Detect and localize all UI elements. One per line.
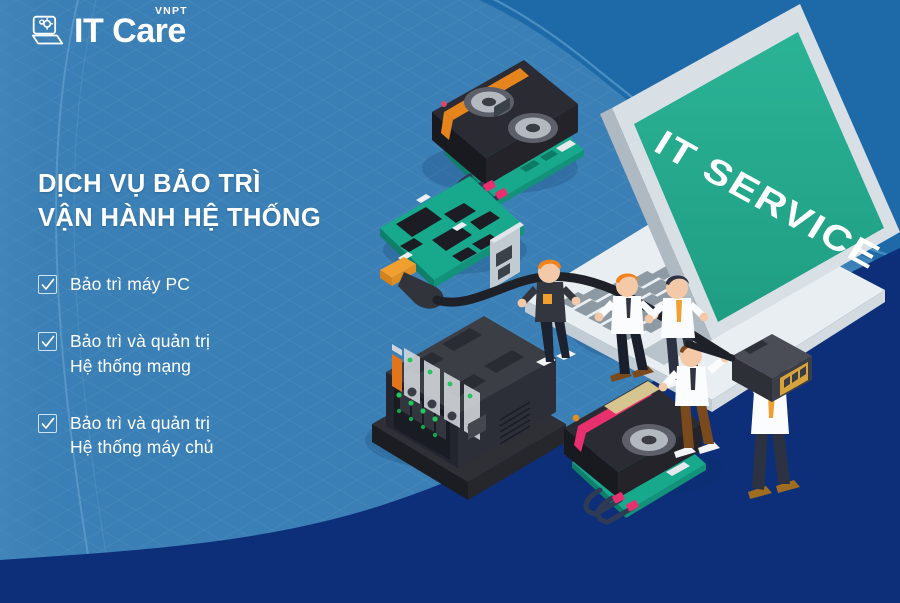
server-tower	[372, 316, 566, 500]
page-title: DỊCH VỤ BẢO TRÌ VẬN HÀNH HỆ THỐNG	[38, 168, 321, 235]
list-item-label: Bảo trì máy PC	[70, 272, 190, 297]
headline-line-1: DỊCH VỤ BẢO TRÌ	[38, 168, 321, 202]
brand-logo[interactable]: IT Care VNPT	[30, 14, 186, 48]
list-item: Bảo trì máy PC	[38, 272, 328, 297]
check-icon	[38, 275, 57, 294]
list-item: Bảo trì và quản trị Hệ thống mạng	[38, 329, 328, 379]
gpu-fan	[622, 424, 676, 456]
laptop-gear-icon	[30, 14, 66, 48]
check-icon	[38, 332, 57, 351]
logo-wordmark: IT Care VNPT	[74, 14, 186, 48]
feature-list: Bảo trì máy PC Bảo trì và quản trị Hệ th…	[38, 272, 328, 460]
headline-line-2: VẬN HÀNH HỆ THỐNG	[38, 202, 321, 236]
check-icon	[38, 414, 57, 433]
list-item-label: Bảo trì và quản trị Hệ thống mạng	[70, 329, 210, 379]
list-item-label: Bảo trì và quản trị Hệ thống máy chủ	[70, 411, 214, 461]
promo-banner: IT SERVICE	[0, 0, 900, 603]
logo-text: IT Care	[74, 14, 186, 48]
list-item: Bảo trì và quản trị Hệ thống máy chủ	[38, 411, 328, 461]
gpu-fan	[508, 113, 558, 143]
logo-superscript: VNPT	[155, 5, 188, 17]
